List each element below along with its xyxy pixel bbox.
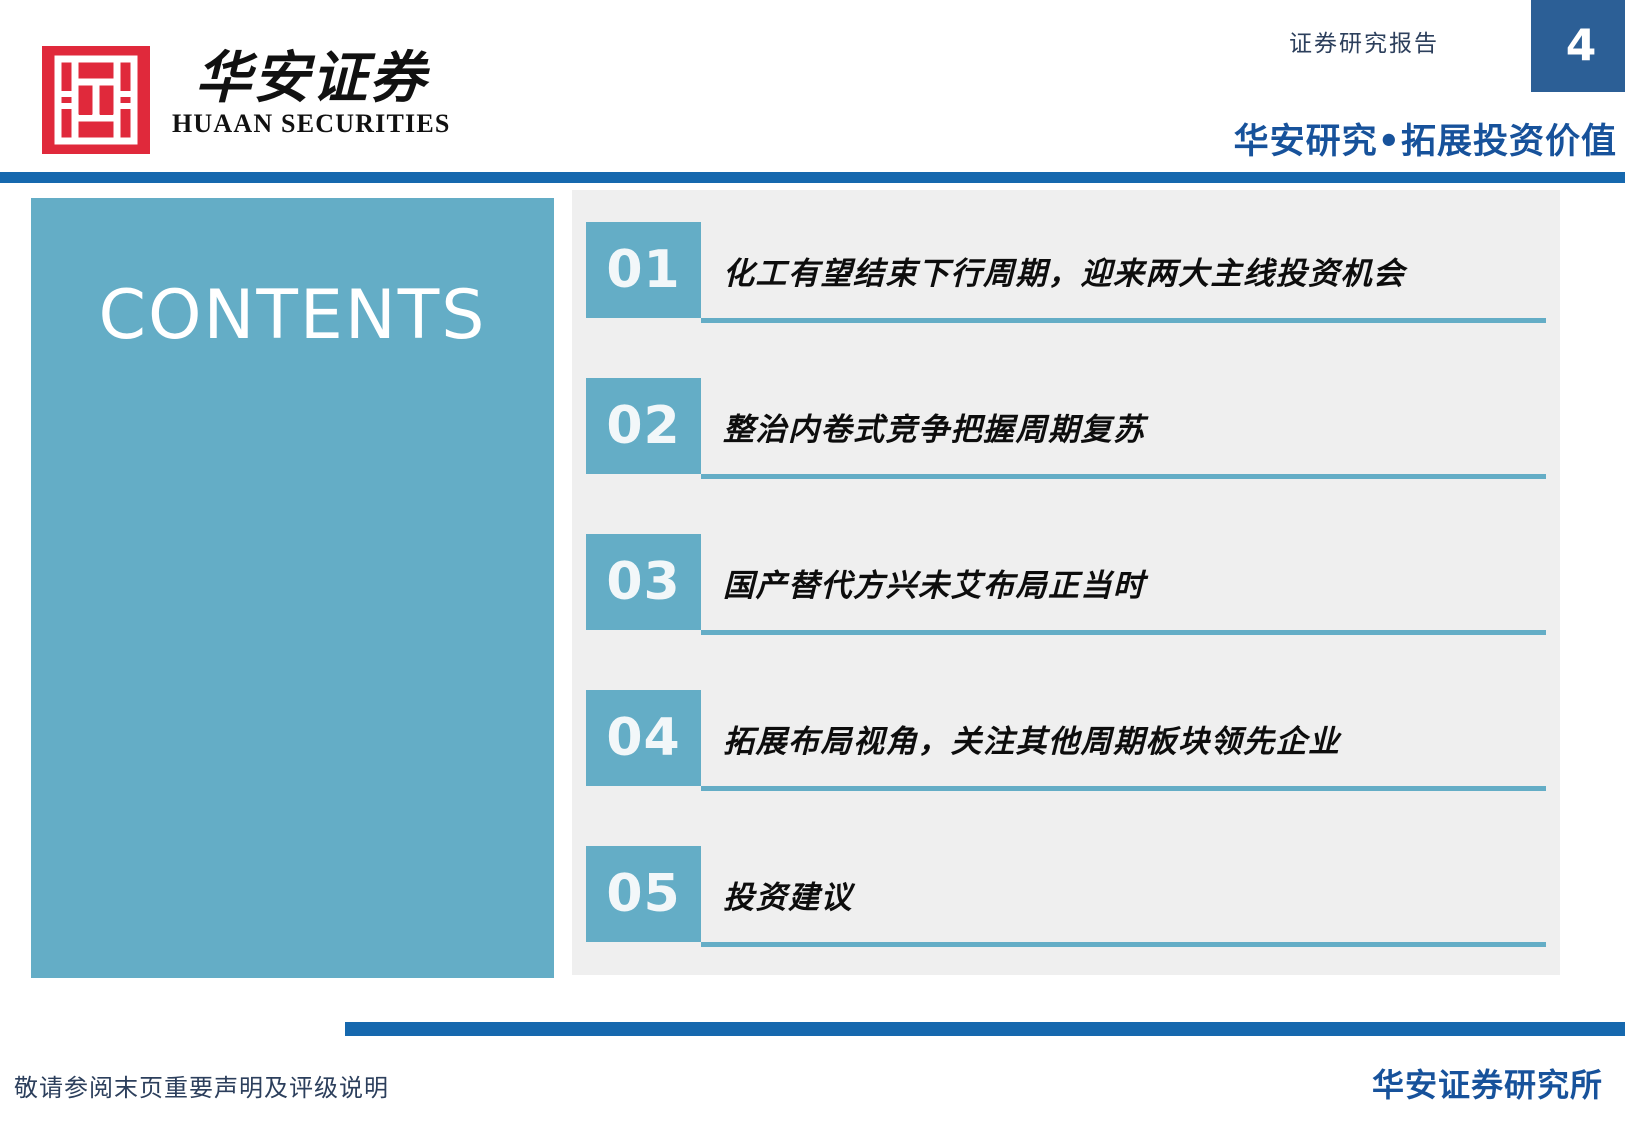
toc-item-number: 04 (586, 708, 701, 768)
footer-organization: 华安证券研究所 (1372, 1060, 1603, 1106)
toc-item-number: 02 (586, 396, 701, 456)
toc-item-number-badge: 05 (586, 846, 701, 942)
footer-disclaimer: 敬请参阅末页重要声明及评级说明 (14, 1068, 389, 1103)
toc-item-label: 化工有望结束下行周期，迎来两大主线投资机会 (723, 222, 1406, 318)
toc-item-label: 拓展布局视角，关注其他周期板块领先企业 (723, 690, 1341, 786)
report-kind-label: 证券研究报告 (1289, 24, 1439, 58)
toc-item-underline (701, 474, 1546, 479)
brand-slogan: 华安研究•拓展投资价值 (1234, 113, 1617, 164)
toc-panel: 01 化工有望结束下行周期，迎来两大主线投资机会 02 整治内卷式竞争把握周期复… (572, 190, 1560, 975)
toc-item[interactable]: 04 拓展布局视角，关注其他周期板块领先企业 (586, 690, 1546, 786)
toc-item[interactable]: 05 投资建议 (586, 846, 1546, 942)
brand-logo: 华安证券 HUAAN SECURITIES (42, 46, 451, 154)
toc-item-label: 整治内卷式竞争把握周期复苏 (723, 378, 1146, 474)
toc-item-underline (701, 630, 1546, 635)
toc-item-number-badge: 04 (586, 690, 701, 786)
page-number-badge: 4 (1531, 0, 1625, 92)
toc-item-underline (701, 942, 1546, 947)
contents-panel: CONTENTS (31, 198, 554, 978)
huaan-seal-logo-icon (42, 46, 150, 154)
toc-item-label: 投资建议 (723, 846, 853, 942)
toc-item-number-badge: 02 (586, 378, 701, 474)
toc-item-number: 03 (586, 552, 701, 612)
header-divider (0, 172, 1625, 183)
contents-title: CONTENTS (31, 276, 554, 355)
toc-item-underline (701, 786, 1546, 791)
footer-divider (345, 1022, 1625, 1036)
toc-item-underline (701, 318, 1546, 323)
toc-item[interactable]: 03 国产替代方兴未艾布局正当时 (586, 534, 1546, 630)
toc-item[interactable]: 01 化工有望结束下行周期，迎来两大主线投资机会 (586, 222, 1546, 318)
page-number-value: 4 (1531, 21, 1625, 72)
toc-item-label: 国产替代方兴未艾布局正当时 (723, 534, 1146, 630)
brand-name-en: HUAAN SECURITIES (172, 109, 451, 139)
page-header: 华安证券 HUAAN SECURITIES 证券研究报告 4 华安研究•拓展投资… (0, 0, 1625, 172)
toc-item-number: 05 (586, 864, 701, 924)
toc-item-number-badge: 01 (586, 222, 701, 318)
toc-item[interactable]: 02 整治内卷式竞争把握周期复苏 (586, 378, 1546, 474)
toc-item-number-badge: 03 (586, 534, 701, 630)
brand-name-cn: 华安证券 (195, 50, 427, 107)
toc-item-number: 01 (586, 240, 701, 300)
brand-wordmark: 华安证券 HUAAN SECURITIES (172, 46, 451, 139)
